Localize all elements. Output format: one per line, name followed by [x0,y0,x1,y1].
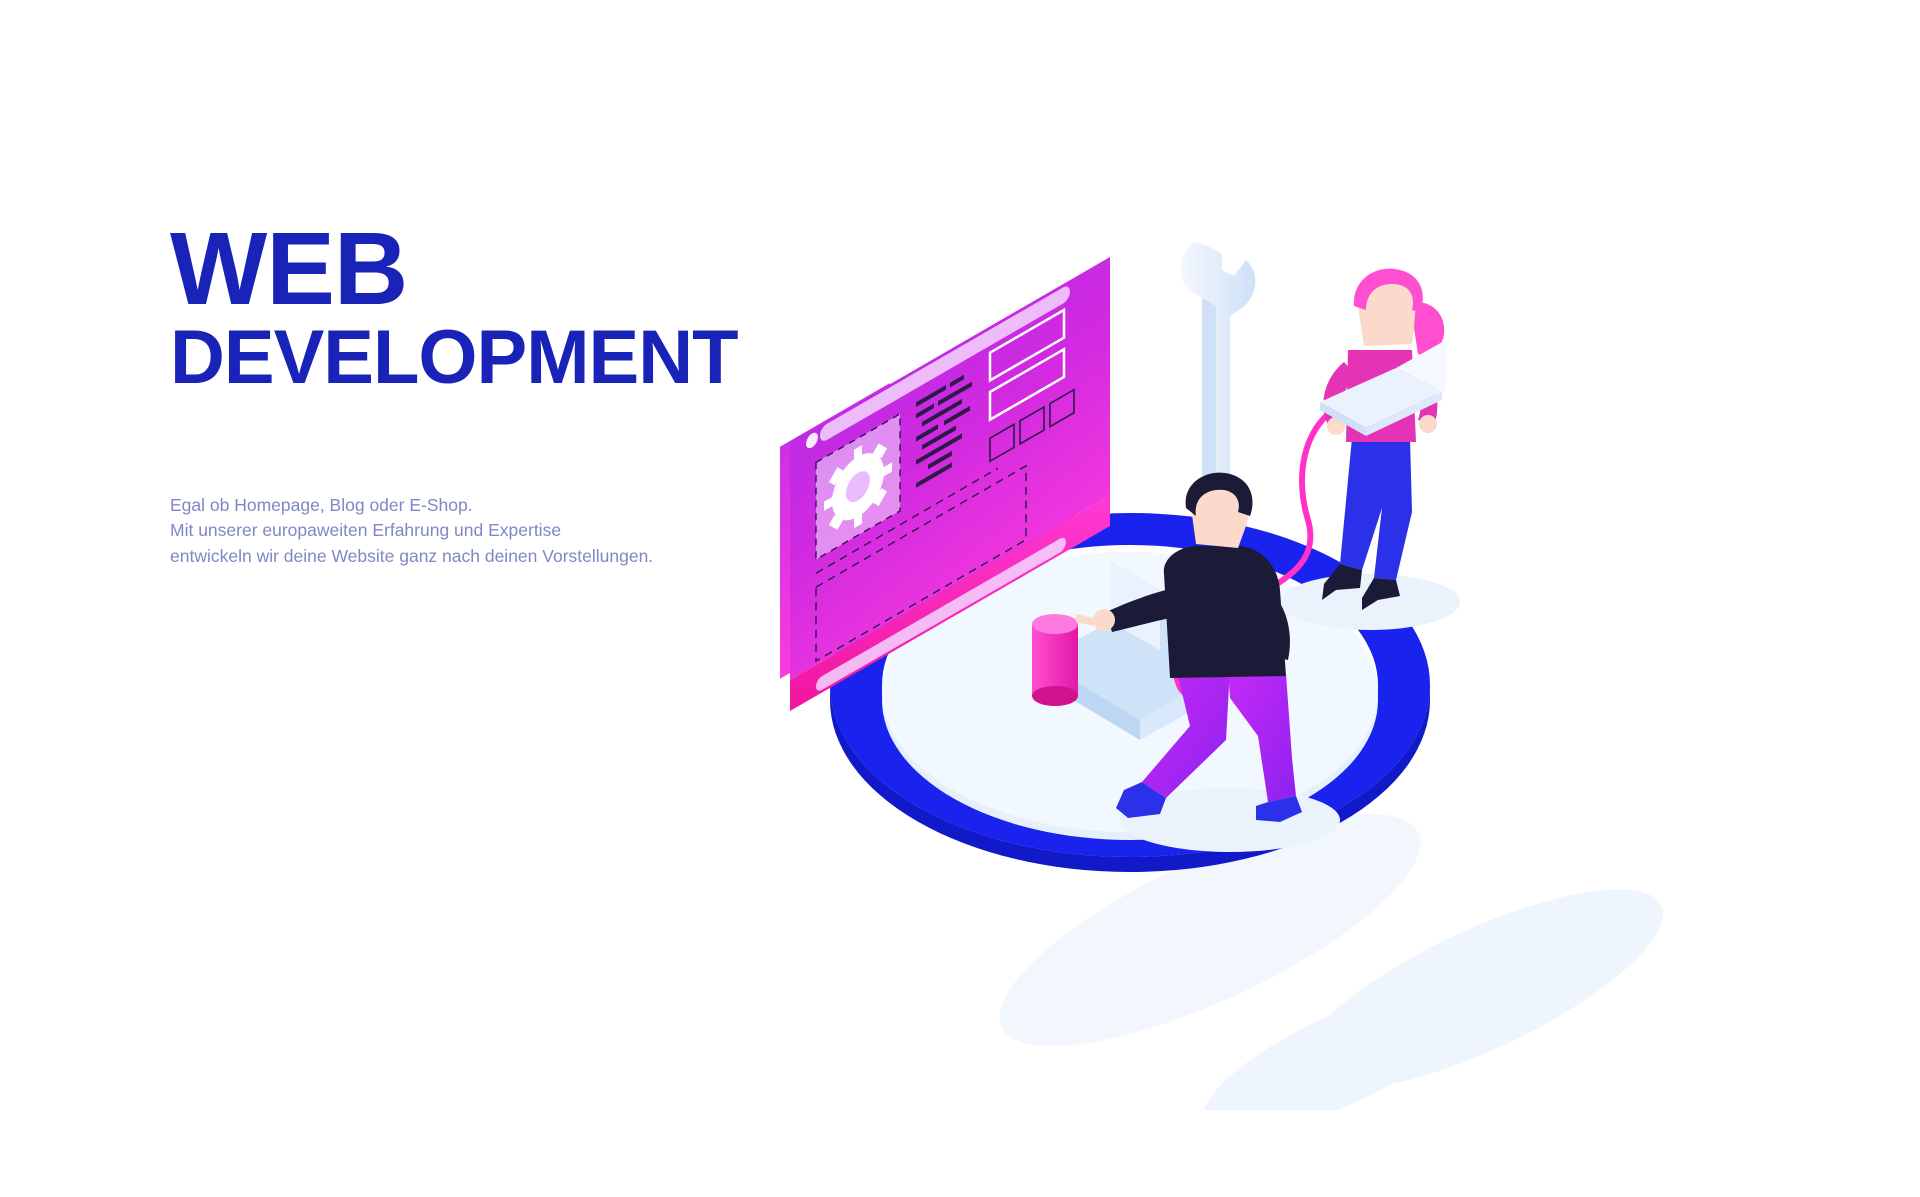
server-cylinder [1032,614,1078,706]
hero-illustration [780,230,1780,1110]
page-subtitle-line-2: Mit unserer europaweiten Erfahrung und E… [170,518,790,543]
illustration-page: WEB DEVELOPMENT Egal ob Homepage, Blog o… [0,0,1920,1197]
page-subtitle-line-3: entwickeln wir deine Website ganz nach d… [170,544,790,569]
page-subtitle: Egal ob Homepage, Blog oder E-Shop. Mit … [170,493,790,569]
page-subtitle-line-1: Egal ob Homepage, Blog oder E-Shop. [170,493,790,518]
